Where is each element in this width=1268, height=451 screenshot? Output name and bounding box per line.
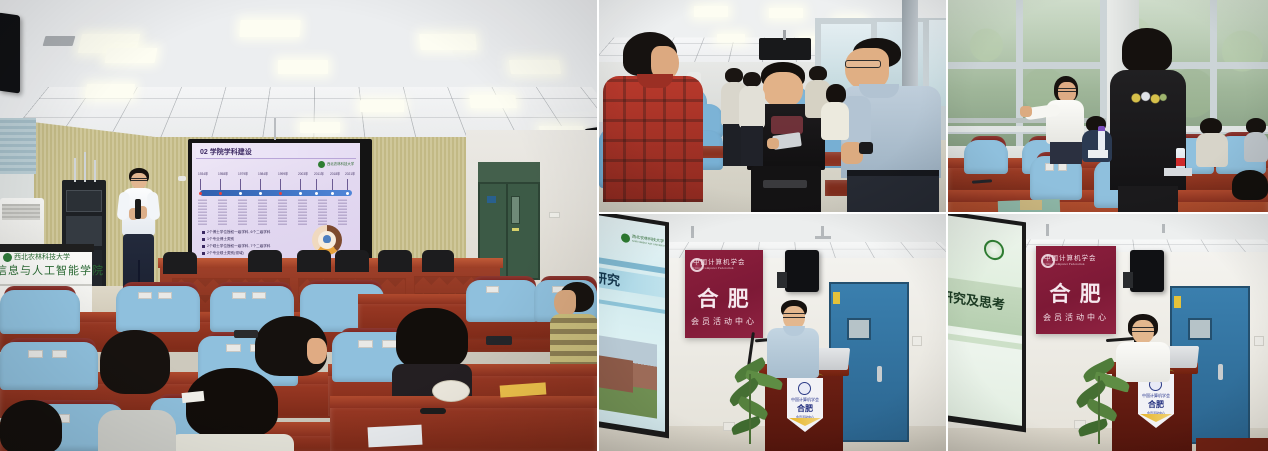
door-tag-icon xyxy=(833,292,840,304)
door-transom xyxy=(478,162,540,184)
pennant-line2: 合肥 xyxy=(789,404,821,414)
timeline-year: 2021年 xyxy=(345,171,355,176)
ceiling-hook xyxy=(821,226,824,236)
podium-college-name: 信息与人工智能学院 xyxy=(0,264,104,278)
bottle-cap xyxy=(1098,126,1105,131)
rack-panel xyxy=(66,190,102,212)
timeline-year: 1934年 xyxy=(198,171,208,176)
door-handle-icon[interactable] xyxy=(1218,364,1223,380)
desk-box xyxy=(1020,200,1042,210)
wrist-watch-icon xyxy=(859,142,873,154)
ceiling-hook xyxy=(1046,224,1049,236)
presenter-arm-right xyxy=(147,192,161,221)
ceiling-hook xyxy=(1162,224,1165,233)
antenna xyxy=(84,152,86,182)
plant-leaf xyxy=(730,416,762,436)
background-person-top xyxy=(739,86,765,128)
ceiling-light xyxy=(509,60,561,74)
shorts-print xyxy=(763,180,807,188)
wall-plate-icon xyxy=(549,212,560,218)
rack-panel xyxy=(66,216,102,246)
projection-screen: 研究及思考 xyxy=(948,214,1022,426)
ceiling-hook xyxy=(691,226,694,238)
ceiling-light xyxy=(469,95,517,108)
seat-number-plate xyxy=(1045,163,1054,171)
ccf-banner: 中国计算机学会 China Computer Federation 合 肥 会员… xyxy=(685,250,763,338)
desk-laptop xyxy=(1164,168,1192,176)
slide-band-bottom xyxy=(599,298,665,314)
audience-seat-cushion xyxy=(466,280,538,322)
audience-hair-icon xyxy=(396,308,468,370)
person-hair-icon xyxy=(743,72,761,87)
plaid-shirt xyxy=(603,76,703,202)
slide-surface: 02 学院学科建设 西北农林科技大学 1934年 1958年 1979年 198… xyxy=(192,143,360,261)
ceiling-projector xyxy=(759,38,811,60)
stage-chair xyxy=(378,250,412,272)
seat-number-plate xyxy=(158,292,172,299)
projection-screen: 研究 西北农林科技大学 NORTHWEST A&F UNIVERSITY 主 xyxy=(599,214,665,432)
seat-number-plate xyxy=(138,292,152,299)
door-window xyxy=(1188,318,1212,340)
wall-speaker-icon xyxy=(785,250,819,292)
audience-face xyxy=(307,338,327,364)
timeline-year: 1958年 xyxy=(218,171,228,176)
ceiling-sensor-icon xyxy=(178,176,186,181)
person-black-graphic-tee xyxy=(1110,28,1186,212)
panel-ccf-female-speaker: 研究及思考 中国计算机学会 China Computer Federation … xyxy=(948,214,1268,451)
university-logo-icon xyxy=(621,233,630,243)
background-person-top xyxy=(821,102,849,140)
classroom-seat-cushion xyxy=(964,140,1008,174)
wall-socket-icon xyxy=(912,336,922,346)
potted-plant xyxy=(727,364,787,451)
ceiling-light xyxy=(300,122,340,133)
water-bottle xyxy=(1098,130,1105,152)
slide-logo-text: 西北农林科技大学 xyxy=(327,161,354,168)
desk-handout xyxy=(368,425,423,448)
photo-collage: 02 学院学科建设 西北农林科技大学 1934年 1958年 1979年 198… xyxy=(0,0,1268,451)
slide-lower-band xyxy=(948,332,1022,350)
door-split xyxy=(506,184,508,280)
audience-face xyxy=(554,290,576,316)
ceiling-hook-plate xyxy=(815,236,831,239)
slide-bullet: 2个硕士学位授权一级学科, 7个二级学科 xyxy=(207,243,271,250)
antenna xyxy=(74,158,76,182)
audience-seat-cushion xyxy=(0,290,80,334)
wall-socket-icon xyxy=(1254,336,1264,346)
person-hair-icon xyxy=(826,84,846,104)
stage-chair xyxy=(163,252,197,274)
slide-bullet: 1个专业博士类别 xyxy=(207,236,234,243)
timeline-ticks xyxy=(198,179,354,191)
seated-student xyxy=(1244,118,1268,164)
desk-phone xyxy=(486,336,512,345)
presenter-glasses-icon xyxy=(131,178,147,181)
audience-grey-top xyxy=(98,410,176,451)
ccf-city-name: 合 肥 xyxy=(685,286,763,312)
wall-speaker-icon xyxy=(1130,250,1164,292)
seated-student-top xyxy=(1244,132,1268,162)
ccf-banner-subtitle: 会员活动中心 xyxy=(1036,312,1116,324)
seated-student xyxy=(1196,118,1228,168)
bottle-label xyxy=(1176,158,1185,166)
projector-mount xyxy=(274,118,276,140)
ccf-pennant-logo-icon xyxy=(798,382,811,395)
slide-bullet: 2个专业硕士类别(领域) xyxy=(207,250,244,257)
seat-number-plate xyxy=(358,340,373,348)
person-glasses-icon xyxy=(1058,88,1076,92)
audience-hair-icon xyxy=(100,330,170,394)
potted-plant xyxy=(1074,364,1134,451)
seated-student-top xyxy=(1196,133,1228,167)
person-plaid-shirt xyxy=(603,32,703,212)
window-blinds xyxy=(0,118,36,174)
timeline-year: 1979年 xyxy=(238,171,248,176)
door-window xyxy=(847,318,871,340)
timeline-dots xyxy=(198,191,354,196)
ccf-banner: 中国计算机学会 China Computer Federation 合 肥 会员… xyxy=(1036,246,1116,334)
person-face xyxy=(1058,82,1076,102)
timeline-year: 2003年 xyxy=(298,171,308,176)
timeline-year: 2011年 xyxy=(314,171,324,176)
podium-top xyxy=(0,244,94,252)
wall-speaker-icon xyxy=(0,12,20,93)
speaker-bracket xyxy=(777,272,787,288)
ccf-org-name-en: China Computer Federation xyxy=(693,266,761,271)
background-person xyxy=(821,84,849,148)
panel-classroom-by-windows xyxy=(948,0,1268,212)
seat-number-plate xyxy=(28,350,43,358)
person-glasses-icon xyxy=(845,60,881,68)
plaid-collar xyxy=(637,74,673,88)
slide-campus-building xyxy=(599,354,633,392)
university-crest-icon xyxy=(984,239,1004,262)
slide-infographic-person-icon xyxy=(323,235,331,243)
door-window xyxy=(511,196,520,224)
ceiling-light xyxy=(717,34,745,42)
audience-seat-cushion xyxy=(0,342,98,390)
audience-member-front xyxy=(180,368,290,451)
seat-number-plate xyxy=(1058,163,1067,171)
desk-paper-fan xyxy=(432,380,470,402)
seat-number-plate xyxy=(232,292,246,299)
background-person xyxy=(739,72,765,164)
podium-university-name: 西北农林科技大学 xyxy=(14,252,70,262)
person-blue-shirt xyxy=(841,38,941,212)
stage-chair xyxy=(297,250,331,272)
ceiling-light xyxy=(278,60,328,74)
dark-trousers xyxy=(847,172,939,212)
seat-number-plate xyxy=(52,350,67,358)
seat-number-plate xyxy=(226,344,241,352)
presenter-face xyxy=(131,173,147,189)
pennant-line1: 中国计算机学会 xyxy=(1140,393,1172,399)
seated-student-foreground xyxy=(1232,170,1268,212)
pennant-line2: 合肥 xyxy=(1140,400,1172,410)
panel-lecture-hall: 02 学院学科建设 西北农林科技大学 1934年 1958年 1979年 198… xyxy=(0,0,597,451)
foreground-chair xyxy=(1196,438,1268,451)
door-tag-icon xyxy=(1174,296,1181,308)
person-face xyxy=(763,72,803,108)
university-logo-icon xyxy=(318,161,325,168)
stage-chair xyxy=(422,250,454,272)
ceiling-light xyxy=(105,48,158,63)
desk-phone xyxy=(234,330,258,338)
ceiling-light xyxy=(769,8,803,18)
ceiling-light xyxy=(694,6,728,17)
panel-ccf-male-speaker: 研究 西北农林科技大学 NORTHWEST A&F UNIVERSITY 主 中… xyxy=(599,214,946,451)
speaker-glasses-icon xyxy=(783,313,805,318)
plant-leaf xyxy=(1077,418,1109,437)
desk-remote xyxy=(420,408,446,414)
desk-notebook xyxy=(1088,150,1108,158)
panel-hallway-discussion xyxy=(599,0,946,212)
ceiling-light xyxy=(239,20,300,37)
ccf-banner-subtitle: 会员活动中心 xyxy=(685,316,763,328)
speaker-glasses-icon xyxy=(1132,327,1154,332)
background-person-pants xyxy=(741,126,763,166)
ceiling-light xyxy=(419,34,476,50)
slide-title-fragment: 研究 xyxy=(599,268,620,291)
ceiling-light xyxy=(85,84,135,98)
speaker-bracket xyxy=(1123,272,1133,288)
person-hair-icon xyxy=(809,66,827,81)
door-handle-icon[interactable] xyxy=(877,366,882,382)
person-hair-icon xyxy=(1232,170,1268,200)
seat-number-plate xyxy=(252,292,266,299)
plant-stem xyxy=(749,374,751,444)
handheld-microphone xyxy=(135,199,141,219)
audience-light-top xyxy=(170,434,294,451)
audience-member-front xyxy=(0,400,62,451)
timeline-year: 2018年 xyxy=(330,171,340,176)
timeline-year: 1984年 xyxy=(258,171,268,176)
audience-hair-icon xyxy=(0,400,62,451)
seat-number-plate xyxy=(486,286,499,293)
ccf-city-name: 合 肥 xyxy=(1036,281,1116,307)
timeline-descriptions xyxy=(198,199,354,225)
slide-bullet: 2个博士学位授权一级学科, 6个二级学科 xyxy=(207,229,271,236)
antenna xyxy=(94,160,96,182)
ac-vent xyxy=(2,204,40,220)
door-handle-icon[interactable] xyxy=(512,228,519,231)
ceiling-vent xyxy=(43,36,76,46)
tshirt-floral-graphic-icon xyxy=(1128,90,1168,106)
plant-stem xyxy=(1098,376,1100,444)
audience-member-front xyxy=(98,396,176,451)
ccf-org-name-en: China Computer Federation xyxy=(1044,262,1114,267)
seat-number-plate xyxy=(382,340,397,348)
ceiling-light xyxy=(360,100,404,112)
person-hand xyxy=(767,138,779,149)
belt xyxy=(847,170,939,176)
pennant-line1: 中国计算机学会 xyxy=(789,397,821,403)
university-crest-icon xyxy=(3,253,12,262)
dark-skirt xyxy=(1050,142,1082,164)
stage-chair xyxy=(248,250,282,272)
person-hair-icon xyxy=(1122,28,1172,72)
projector-mount xyxy=(783,30,786,40)
black-shorts xyxy=(751,166,821,212)
speaker-face xyxy=(1132,320,1154,344)
door-sign xyxy=(487,196,496,203)
timeline-year: 1999年 xyxy=(278,171,288,176)
person-hand xyxy=(1020,106,1032,117)
slide-title: 02 学院学科建设 xyxy=(200,147,252,158)
stage-chair xyxy=(335,250,369,272)
person-legs xyxy=(1118,186,1178,212)
